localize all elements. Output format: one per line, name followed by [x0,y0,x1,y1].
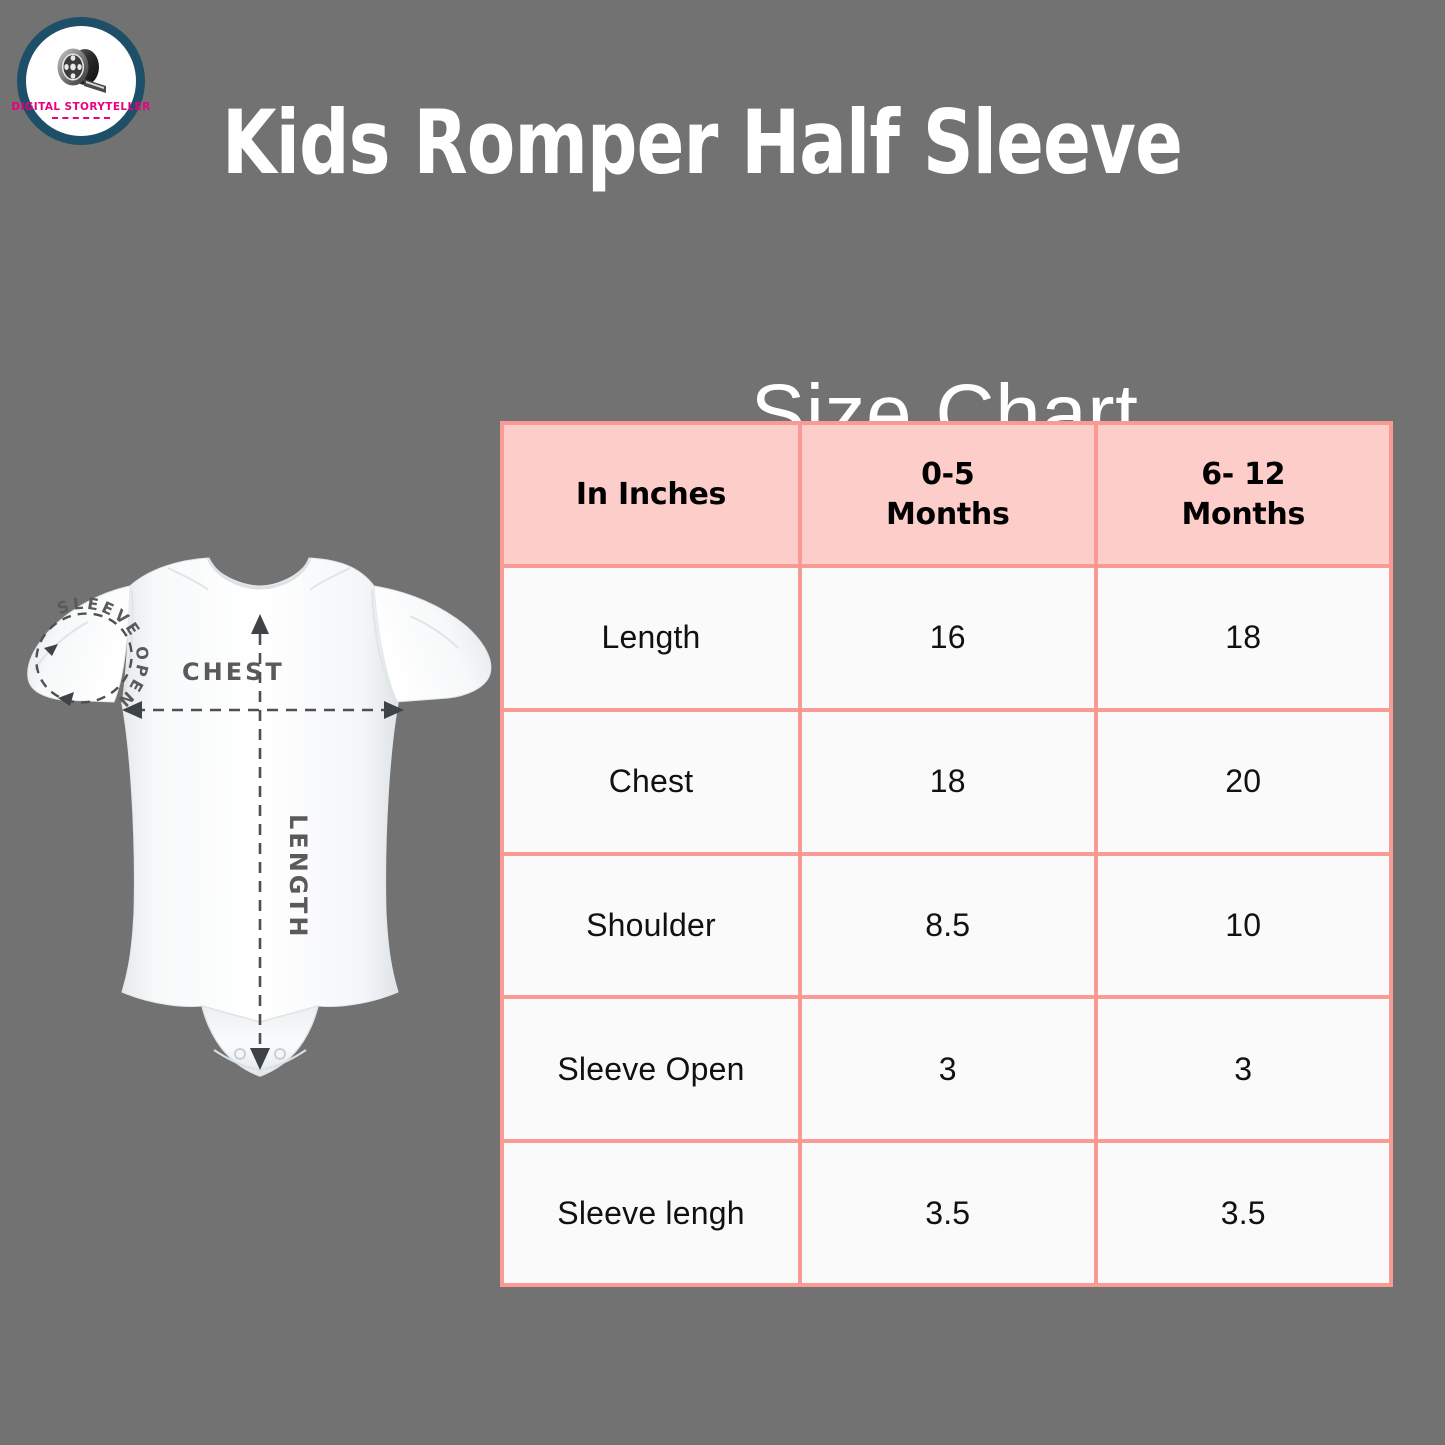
column-header-in-inches: In Inches [502,423,800,566]
cell-length-6-12: 18 [1096,566,1392,710]
row-label-sleeve-open: Sleeve Open [502,997,800,1141]
cell-sleeve-length-0-5: 3.5 [800,1141,1096,1285]
table-row: Chest 18 20 [502,710,1391,854]
length-label: LENGTH [284,814,312,940]
cell-sleeve-open-0-5: 3 [800,997,1096,1141]
film-reel-icon [51,48,111,99]
column-header-6-12-months: 6- 12 Months [1096,423,1392,566]
table-row: Shoulder 8.5 10 [502,854,1391,998]
logo-dashed-rule [52,117,110,119]
romper-illustration: SLEEVE OPEN CHEST LENGTH [18,552,502,1172]
cell-sleeve-length-6-12: 3.5 [1096,1141,1392,1285]
logo-brand-text: DIGITAL STORYTELLER [11,101,150,113]
row-label-chest: Chest [502,710,800,854]
column-header-0-5-months: 0-5 Months [800,423,1096,566]
cell-chest-0-5: 18 [800,710,1096,854]
size-chart-table: In Inches 0-5 Months 6- 12 Months Length… [500,421,1393,1287]
table-header-row: In Inches 0-5 Months 6- 12 Months [502,423,1391,566]
cell-shoulder-0-5: 8.5 [800,854,1096,998]
table-row: Sleeve lengh 3.5 3.5 [502,1141,1391,1285]
cell-chest-6-12: 20 [1096,710,1392,854]
page-title: Kids Romper Half Sleeve [222,97,1182,189]
table-row: Length 16 18 [502,566,1391,710]
right-sleeve [374,586,491,702]
cell-sleeve-open-6-12: 3 [1096,997,1392,1141]
row-label-length: Length [502,566,800,710]
cell-shoulder-6-12: 10 [1096,854,1392,998]
row-label-shoulder: Shoulder [502,854,800,998]
table-row: Sleeve Open 3 3 [502,997,1391,1141]
brand-logo: DIGITAL STORYTELLER [17,17,145,145]
cell-length-0-5: 16 [800,566,1096,710]
chest-label: CHEST [182,658,285,686]
row-label-sleeve-length: Sleeve lengh [502,1141,800,1285]
